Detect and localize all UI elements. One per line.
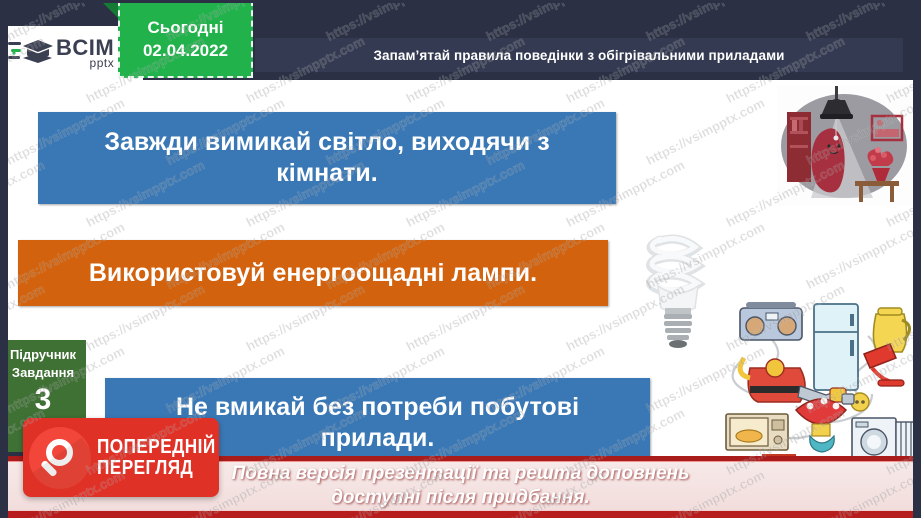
magnifier-icon <box>29 427 91 489</box>
date-badge-label: Сьогодні <box>148 18 224 38</box>
rule-box-2-text: Використовуй енергоощадні лампи. <box>89 258 537 288</box>
rule-box-1: Завжди вимикай світло, виходячи з кімнат… <box>38 112 616 204</box>
rule-box-2: Використовуй енергоощадні лампи. <box>18 240 608 306</box>
banner-line-1: Повна версія презентації та решта доповн… <box>232 462 690 486</box>
preview-badge-line2: ПЕРЕГЛЯД <box>97 458 216 479</box>
date-badge: Сьогодні 02.04.2022 <box>118 0 253 78</box>
home-appliances-collage-illustration <box>700 302 918 477</box>
banner-bottom-stripe <box>0 511 921 518</box>
sidebar-card-number: 3 <box>0 383 86 417</box>
date-badge-value: 02.04.2022 <box>143 41 228 61</box>
preview-badge: ПОПЕРЕДНІЙ ПЕРЕГЛЯД <box>23 418 219 497</box>
sidebar-card-line2: Завдання <box>0 364 86 382</box>
banner-line-2: доступні після придбання. <box>331 486 590 510</box>
frame-edge-left <box>0 0 8 518</box>
living-room-lamp-illustration <box>777 86 912 206</box>
rule-box-1-text: Завжди вимикай світло, виходячи з кімнат… <box>52 127 602 189</box>
watermark-text: https://vsimpptx.com <box>804 219 921 292</box>
sidebar-card-line1: Підручник <box>0 346 86 364</box>
preview-badge-line1: ПОПЕРЕДНІЙ <box>97 437 216 458</box>
watermark-text: https://vsimpptx.com <box>644 95 767 168</box>
graduation-cap-icon <box>8 36 54 70</box>
frame-edge-top <box>0 0 921 3</box>
frame-edge-right <box>913 0 921 518</box>
page-title: Запам’ятай правила поведінки з обігрівал… <box>373 48 784 63</box>
slide-title-bar: Запам’ятай правила поведінки з обігрівал… <box>255 38 903 72</box>
slide-canvas: BCIM pptx Сьогодні 02.04.2022 Запам’ятай… <box>0 0 921 518</box>
